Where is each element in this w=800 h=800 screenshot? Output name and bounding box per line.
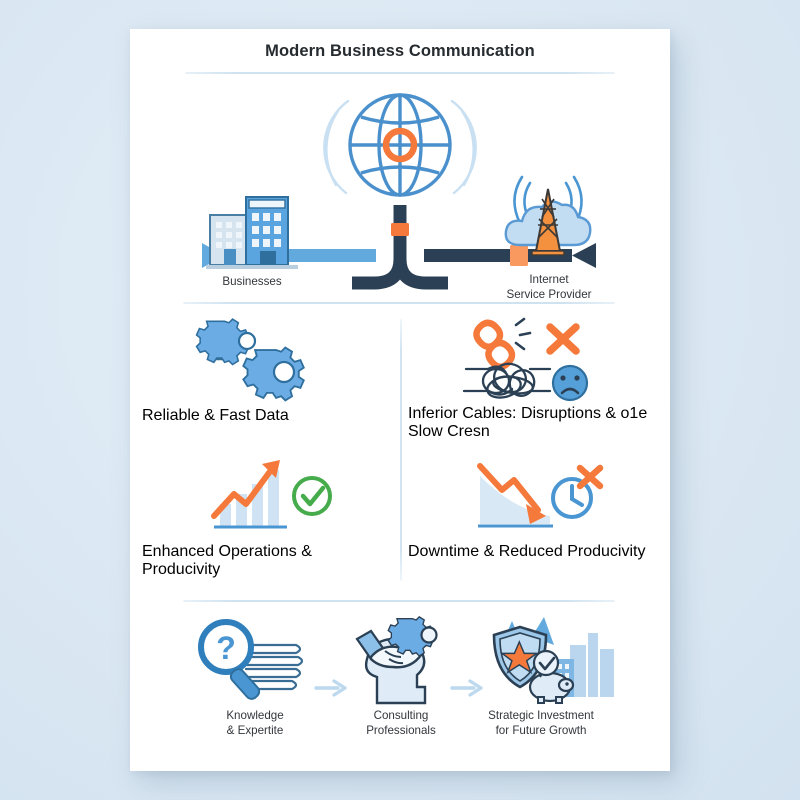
isp-label: Internet Service Provider bbox=[488, 273, 610, 302]
journey-step-label: Knowledge & Expertite bbox=[180, 709, 330, 738]
divider-middle bbox=[183, 302, 615, 304]
sad-face-icon bbox=[553, 366, 587, 400]
compare-item-label: Reliable & Fast Data bbox=[142, 407, 392, 425]
svg-text:?: ? bbox=[216, 630, 236, 666]
broken-chain-tangled-cable-icon bbox=[402, 317, 664, 403]
divider-bottom bbox=[183, 600, 615, 602]
compare-item-enhanced-operations: Enhanced Operations & Producivity bbox=[136, 449, 398, 587]
compare-item-label: Enhanced Operations & Producivity bbox=[142, 543, 392, 579]
falling-chart-clock-icon bbox=[402, 453, 664, 539]
shield-star-piggybank-city-icon bbox=[466, 617, 616, 703]
infographic-canvas: Modern Business Communication bbox=[0, 0, 800, 800]
compare-item-inferior-cables: Inferior Cables: Disruptions & o1e Slow … bbox=[402, 313, 664, 451]
check-circle-icon bbox=[294, 478, 330, 514]
journey-step-label: Strategic Investment for Future Growth bbox=[466, 709, 616, 738]
infographic-card: Modern Business Communication bbox=[130, 29, 670, 771]
compare-item-label: Downtime & Reduced Producivity bbox=[408, 543, 658, 561]
rising-chart-check-icon bbox=[136, 453, 398, 539]
gears-speed-icon bbox=[136, 317, 398, 403]
divider-top bbox=[185, 72, 615, 74]
office-buildings-icon bbox=[206, 189, 298, 271]
page-title: Modern Business Communication bbox=[130, 42, 670, 61]
journey-section: ? Knowledge & Expertite bbox=[130, 611, 670, 771]
journey-step-knowledge: ? Knowledge & Expertite bbox=[180, 617, 330, 738]
journey-step-investment: Strategic Investment for Future Growth bbox=[466, 617, 616, 738]
compare-item-label: Inferior Cables: Disruptions & o1e Slow … bbox=[408, 405, 658, 441]
network-section: Businesses Internet Service Provider bbox=[130, 77, 670, 302]
compare-item-downtime: Downtime & Reduced Producivity bbox=[402, 449, 664, 587]
compare-item-reliable-fast-data: Reliable & Fast Data bbox=[136, 313, 398, 451]
cloud-tower-icon bbox=[498, 175, 598, 267]
journey-step-label: Consulting Professionals bbox=[326, 709, 476, 738]
businesses-label: Businesses bbox=[202, 275, 302, 290]
magnifier-question-documents-icon: ? bbox=[180, 617, 330, 703]
verified-check-icon bbox=[534, 651, 558, 675]
